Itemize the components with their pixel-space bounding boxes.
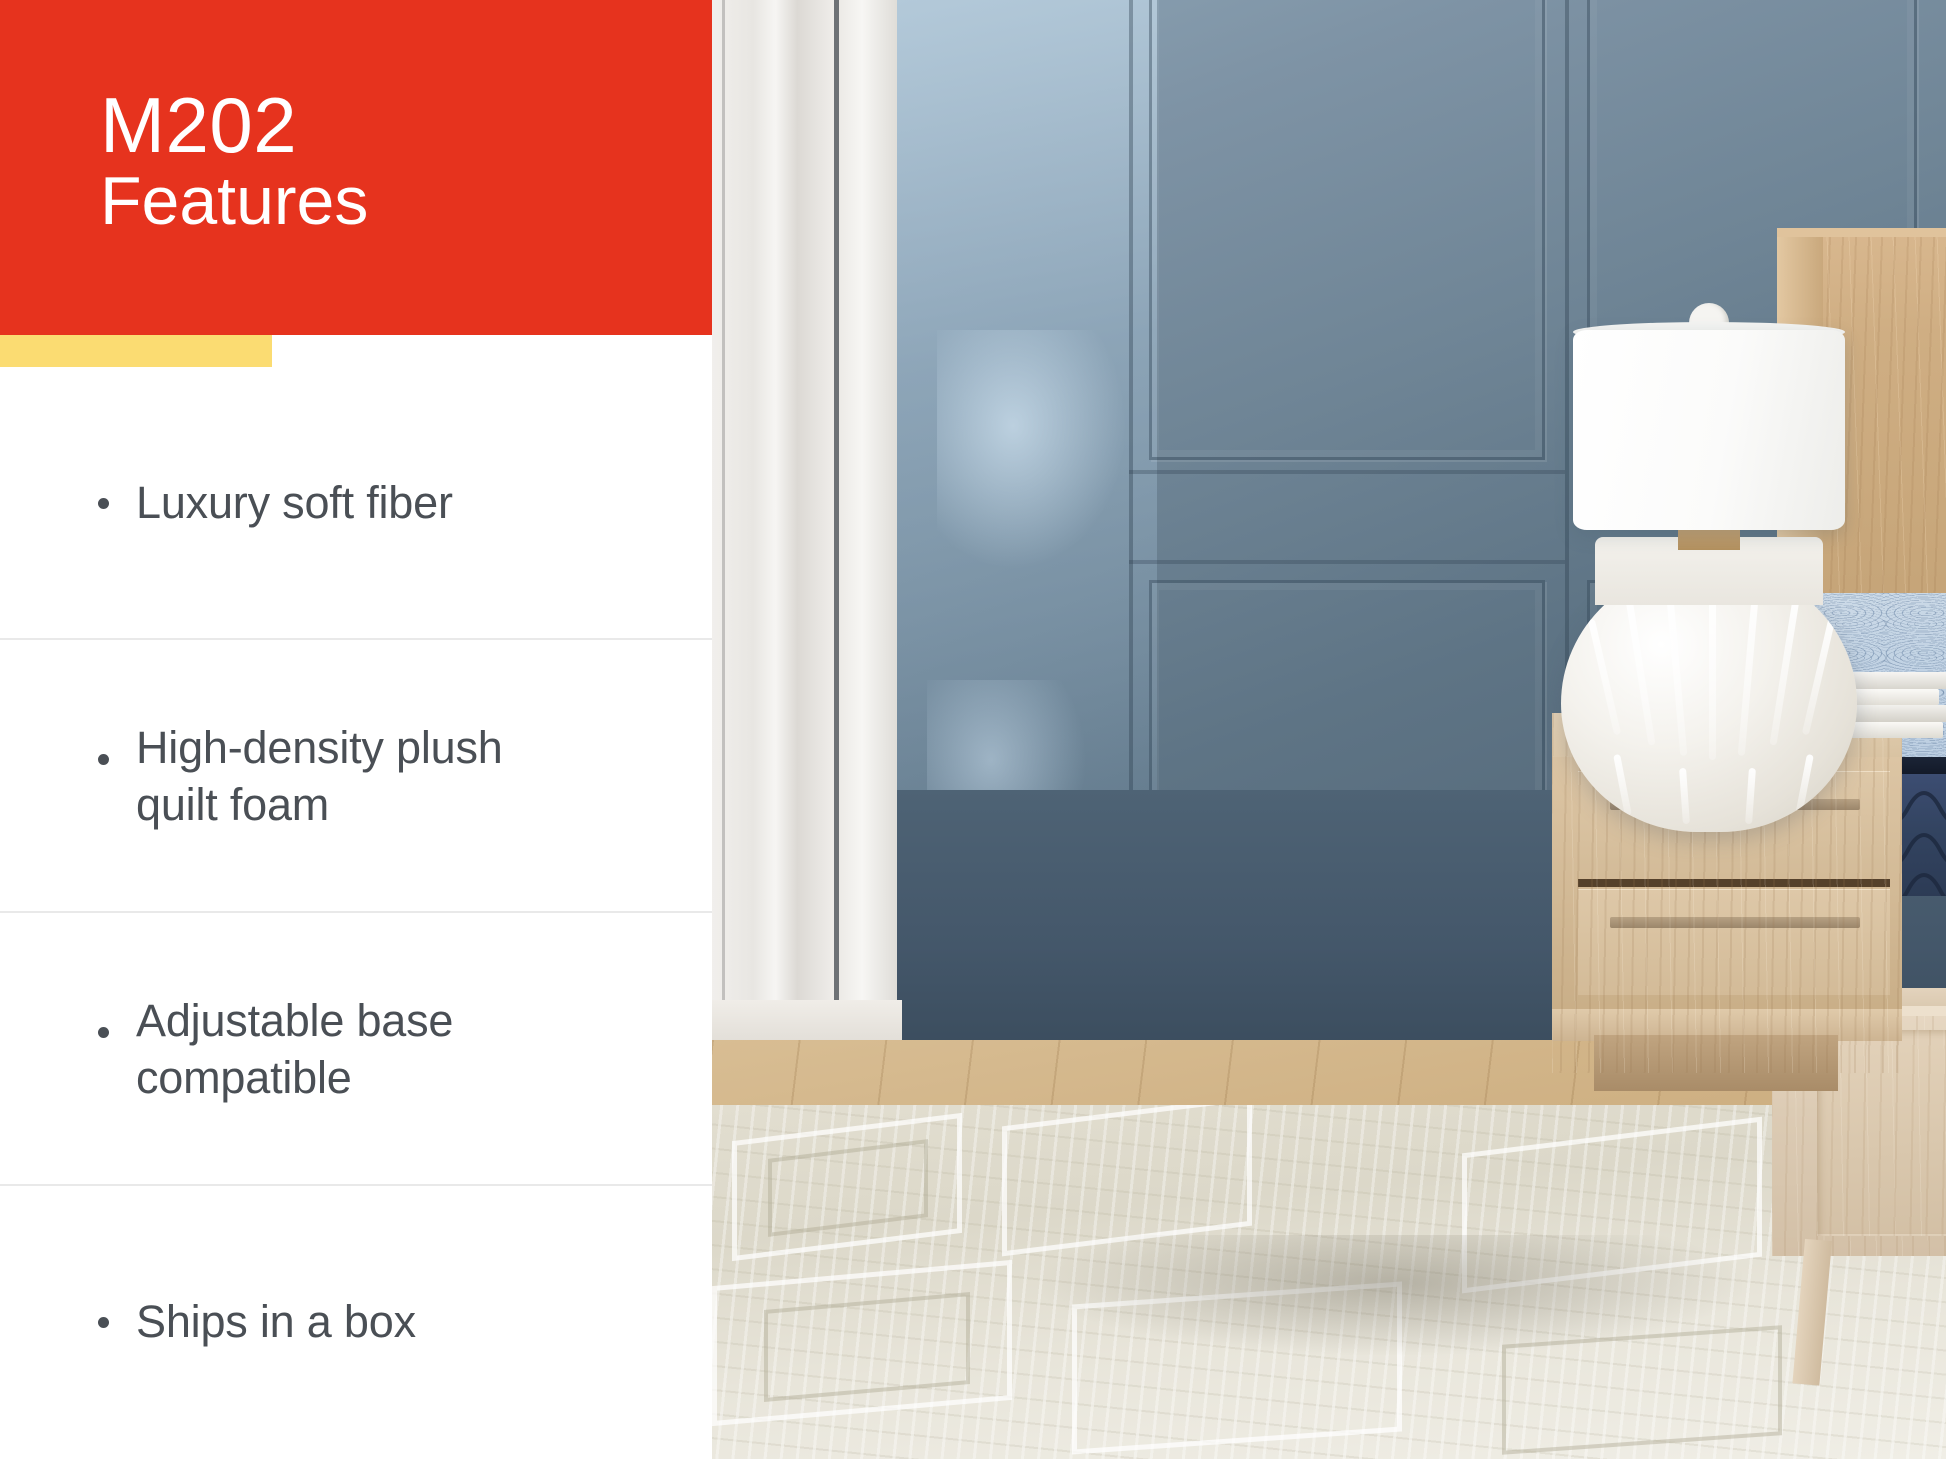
lamp-flute-10	[1745, 768, 1756, 824]
lamp-flute-8	[1613, 754, 1632, 816]
feature-item-4: Ships in a box	[0, 1186, 712, 1459]
feature-label-1: Luxury soft fiber	[136, 475, 453, 531]
feature-item-1: Luxury soft fiber	[0, 367, 712, 640]
page-title: Features	[100, 166, 368, 237]
feature-label-4: Ships in a box	[136, 1294, 416, 1350]
nightstand-pull-bottom[interactable]	[1610, 917, 1860, 928]
bullet-icon	[98, 1317, 109, 1328]
lamp-shade[interactable]	[1573, 330, 1845, 530]
feature-label-3: Adjustable base compatible	[136, 993, 566, 1106]
door-jamb	[839, 0, 897, 1115]
left-info-panel: M202 Features Luxury soft fiber High-den…	[0, 0, 712, 1459]
door-casing	[712, 0, 834, 1115]
lamp-flute-1	[1588, 619, 1621, 736]
feature-label-2: High-density plush quilt foam	[136, 720, 566, 833]
rug-motif-5	[764, 1292, 970, 1402]
bedroom-photo	[712, 0, 1946, 1459]
wall-rail-seam-1	[1129, 470, 1565, 474]
lamp-flute-5	[1738, 588, 1760, 756]
accent-bar	[0, 335, 272, 367]
nightstand-drawer-bottom[interactable]	[1578, 889, 1890, 995]
model-title: M202	[100, 88, 368, 162]
nightstand-plinth	[1594, 1035, 1838, 1091]
bullet-icon	[98, 498, 109, 509]
slide-canvas: M202 Features Luxury soft fiber High-den…	[0, 0, 1946, 1459]
bed-shadow-on-rug	[1042, 1235, 1742, 1355]
bullet-icon	[98, 1027, 109, 1038]
lamp-flute-3	[1666, 588, 1688, 756]
lamp-flute-6	[1769, 598, 1799, 745]
wall-stile-seam-1	[1129, 0, 1133, 790]
lamp-flute-9	[1679, 768, 1690, 824]
header-block: M202 Features	[0, 0, 712, 335]
lamp-flute-4	[1709, 584, 1716, 760]
wall-panel-1	[1149, 0, 1545, 460]
feature-item-2: High-density plush quilt foam	[0, 640, 712, 913]
wall-glow-upper	[937, 330, 1127, 570]
lamp-flute-7	[1802, 619, 1835, 736]
wall-rail-seam-2	[1129, 560, 1565, 564]
nightstand-drawer-gap	[1578, 879, 1890, 887]
lamp-flute-2	[1625, 598, 1655, 745]
title-wrap: M202 Features	[100, 88, 368, 237]
feature-list: Luxury soft fiber High-density plush qui…	[0, 367, 712, 1459]
feature-item-3: Adjustable base compatible	[0, 913, 712, 1186]
bullet-icon	[98, 754, 109, 765]
